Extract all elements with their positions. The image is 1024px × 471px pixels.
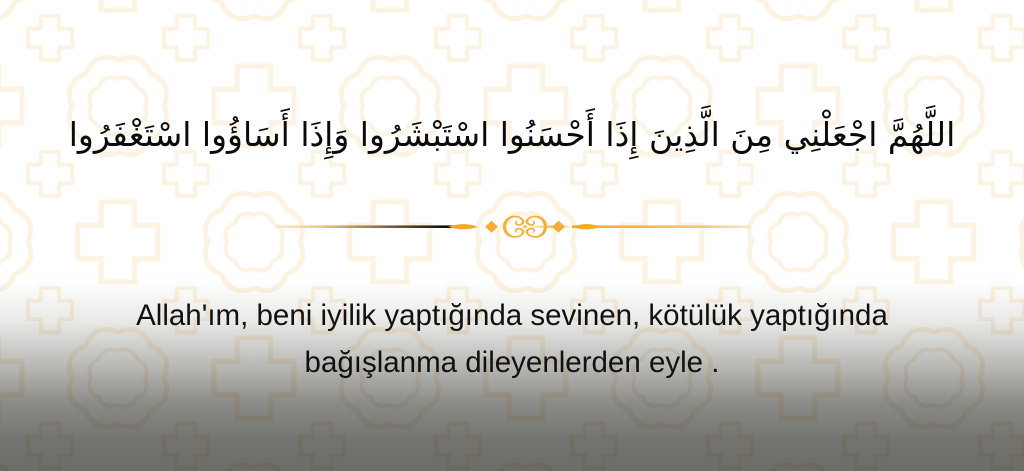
arabic-dua-text: اللَّهُمَّ اجْعَلْنِي مِنَ الَّذِينَ إِذ… (0, 104, 1024, 166)
divider-rule-right (572, 225, 750, 228)
divider-rule-left (276, 225, 454, 228)
divider-flourish-left (503, 216, 526, 238)
divider-diamond-left (485, 221, 498, 233)
turkish-translation: Allah'ım, beni iyilik yaptığında sevinen… (52, 292, 972, 386)
ornamental-divider (272, 212, 754, 242)
translation-line-2: bağışlanma dileyenlerden eyle . (52, 339, 972, 386)
divider-rule-center (530, 226, 572, 228)
dua-card: اللَّهُمَّ اجْعَلْنِي مِنَ الَّذِينَ إِذ… (0, 0, 1024, 471)
divider-taper-left (448, 224, 478, 229)
divider-diamond-right (552, 221, 565, 233)
translation-line-1: Allah'ım, beni iyilik yaptığında sevinen… (52, 292, 972, 339)
